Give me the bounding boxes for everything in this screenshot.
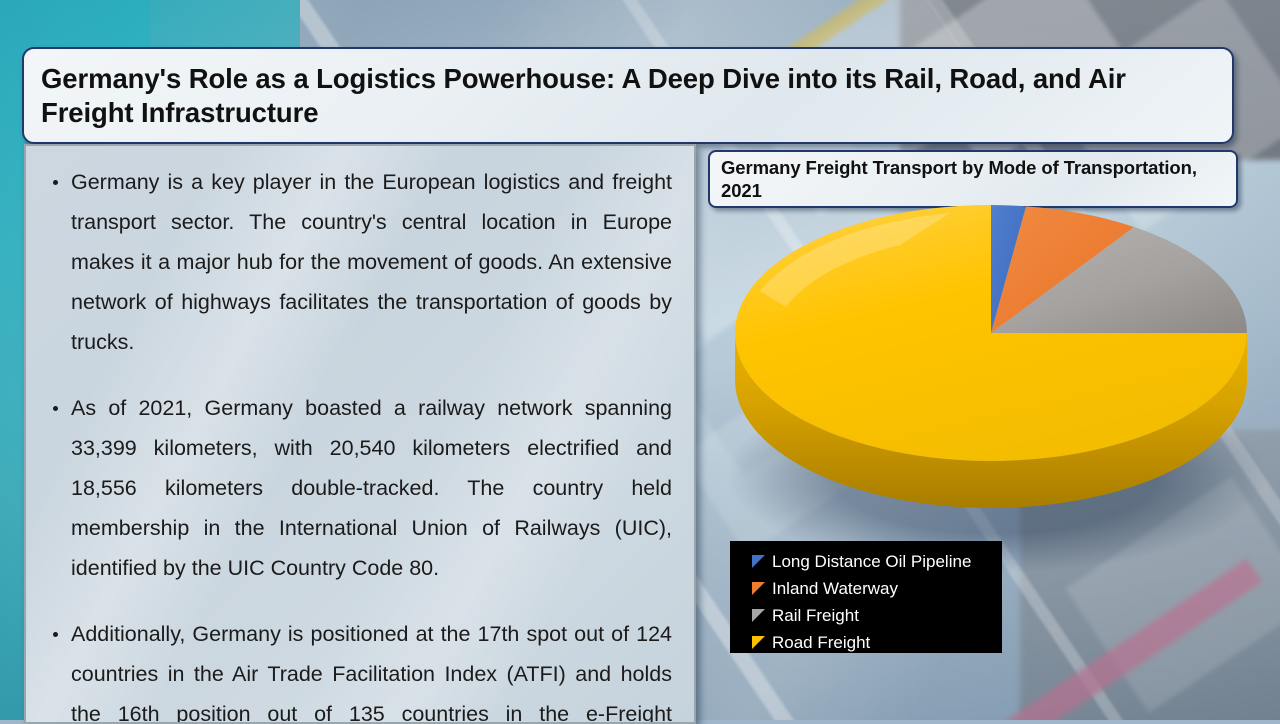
pie-chart xyxy=(700,205,1280,565)
legend-label: Inland Waterway xyxy=(772,580,898,597)
page-title: Germany's Role as a Logistics Powerhouse… xyxy=(24,62,1232,130)
legend-item-long-distance-oil-pipeline[interactable]: Long Distance Oil Pipeline xyxy=(752,548,1002,575)
legend-swatch-icon xyxy=(752,636,765,649)
chart-legend: Long Distance Oil Pipeline Inland Waterw… xyxy=(730,541,1002,653)
chart-title-box: Germany Freight Transport by Mode of Tra… xyxy=(708,150,1238,208)
legend-swatch-icon xyxy=(752,555,765,568)
legend-label: Road Freight xyxy=(772,634,870,651)
legend-item-road-freight[interactable]: Road Freight xyxy=(752,629,1002,656)
legend-item-inland-waterway[interactable]: Inland Waterway xyxy=(752,575,1002,602)
list-item: Germany is a key player in the European … xyxy=(48,162,672,362)
pie-chart-svg xyxy=(700,205,1280,565)
legend-item-rail-freight[interactable]: Rail Freight xyxy=(752,602,1002,629)
legend-label: Long Distance Oil Pipeline xyxy=(772,553,971,570)
list-item: Additionally, Germany is positioned at t… xyxy=(48,614,672,724)
slide-title-box: Germany's Role as a Logistics Powerhouse… xyxy=(22,47,1234,144)
legend-swatch-icon xyxy=(752,609,765,622)
legend-label: Rail Freight xyxy=(772,607,859,624)
legend-swatch-icon xyxy=(752,582,765,595)
list-item: As of 2021, Germany boasted a railway ne… xyxy=(48,388,672,588)
bullet-list: Germany is a key player in the European … xyxy=(26,146,694,724)
content-panel: Germany is a key player in the European … xyxy=(24,144,696,724)
chart-title: Germany Freight Transport by Mode of Tra… xyxy=(710,156,1236,202)
